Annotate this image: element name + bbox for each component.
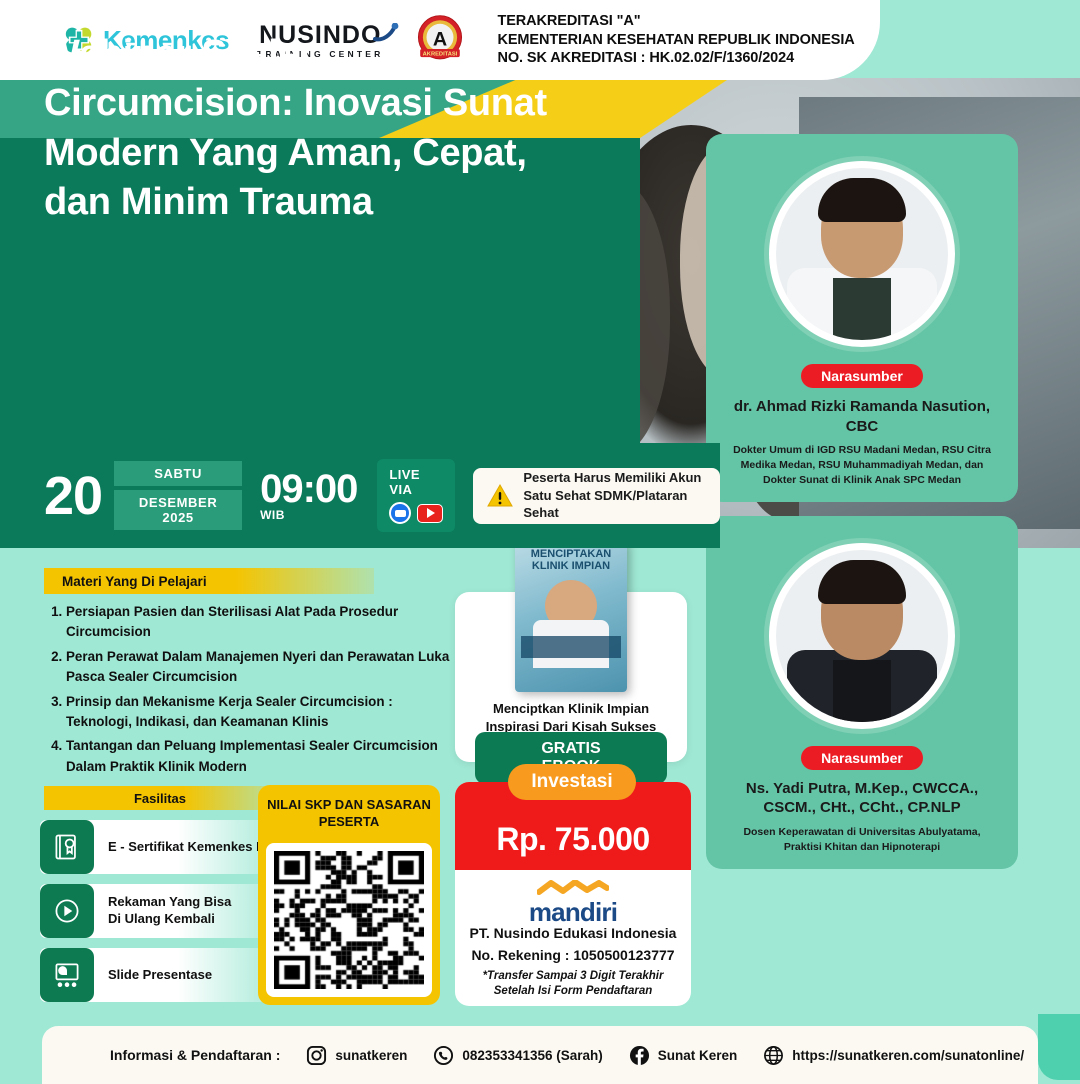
qr-panel: NILAI SKP DAN SASARAN PESERTA xyxy=(258,785,440,1005)
materi-list: Persiapan Pasien dan Sterilisasi Alat Pa… xyxy=(44,602,454,781)
fasilitas-item-slides: Slide Presentase xyxy=(40,948,290,1002)
participant-notice: Peserta Harus Memiliki Akun Satu Sehat S… xyxy=(473,468,720,524)
event-day-name: SABTU xyxy=(114,461,242,486)
fasilitas-item-certificate: E - Sertifikat Kemenkes RI xyxy=(40,820,290,874)
speaker-role: Dokter Umum di IGD RSU Madani Medan, RSU… xyxy=(718,443,1006,488)
whatsapp-icon xyxy=(433,1045,454,1066)
contact-instagram[interactable]: sunatkeren xyxy=(306,1045,407,1066)
investasi-price: Rp. 75.000 xyxy=(496,821,649,858)
event-timezone: WIB xyxy=(260,508,357,522)
event-datetime-bar: 20 SABTU DESEMBER 2025 09:00 WIB LIVE VI… xyxy=(0,443,720,548)
ebook-cover-image: MENCIPTAKAN KLINIK IMPIAN xyxy=(515,540,627,692)
speaker-avatar xyxy=(776,168,948,340)
speaker-photo-frame xyxy=(764,156,960,352)
fasilitas-heading-tag: Fasilitas xyxy=(44,786,276,810)
investasi-card: Rp. 75.000 mandiri PT. Nusindo Edukasi I… xyxy=(455,782,691,1006)
contact-facebook-text: Sunat Keren xyxy=(658,1048,738,1063)
ebook-button-line1: GRATIS xyxy=(541,740,600,758)
participant-notice-text: Peserta Harus Memiliki Akun Satu Sehat S… xyxy=(523,469,706,522)
poster-root: Kemenkes NUSINDO TRAINING CENTER xyxy=(0,0,1080,1080)
ebook-cover-title: MENCIPTAKAN KLINIK IMPIAN xyxy=(515,548,627,572)
ebook-card: MENCIPTAKAN KLINIK IMPIAN Menciptkan Kli… xyxy=(455,592,687,762)
event-time: 09:00 xyxy=(260,470,357,508)
play-icon xyxy=(40,884,94,938)
instagram-icon xyxy=(306,1045,327,1066)
speaker-card-2: Narasumber Ns. Yadi Putra, M.Kep., CWCCA… xyxy=(706,516,1018,869)
live-via-block: LIVE VIA xyxy=(377,459,455,532)
contact-whatsapp[interactable]: 082353341356 (Sarah) xyxy=(433,1045,602,1066)
speaker-name: Ns. Yadi Putra, M.Kep., CWCCA., CSCM., C… xyxy=(718,779,1006,818)
zoom-icon xyxy=(389,502,411,524)
qr-title: NILAI SKP DAN SASARAN PESERTA xyxy=(258,785,440,839)
contact-website-text: https://sunatkeren.com/sunatonline/ xyxy=(792,1048,1024,1063)
contact-instagram-text: sunatkeren xyxy=(335,1048,407,1063)
footer-label: Informasi & Pendaftaran : xyxy=(110,1047,280,1063)
fasilitas-heading: Fasilitas xyxy=(134,791,186,806)
certificate-icon xyxy=(40,820,94,874)
facebook-icon xyxy=(629,1045,650,1066)
event-month-year: DESEMBER 2025 xyxy=(114,490,242,530)
transfer-note: *Transfer Sampai 3 Digit Terakhir Setela… xyxy=(455,969,691,999)
speaker-name: dr. Ahmad Rizki Ramanda Nasution, CBC xyxy=(718,397,1006,436)
materi-item: Persiapan Pasien dan Sterilisasi Alat Pa… xyxy=(66,602,454,643)
speaker-avatar xyxy=(776,550,948,722)
page-title: Webinar Sealer Circumcision: Inovasi Sun… xyxy=(44,30,564,228)
materi-item: Peran Perawat Dalam Manajemen Nyeri dan … xyxy=(66,647,454,688)
speaker-card-1: Narasumber dr. Ahmad Rizki Ramanda Nasut… xyxy=(706,134,1018,502)
speaker-badge: Narasumber xyxy=(801,746,923,770)
materi-heading: Materi Yang Di Pelajari xyxy=(62,574,207,589)
mandiri-logo: mandiri xyxy=(455,880,691,920)
fasilitas-label: Rekaman Yang Bisa Di Ulang Kembali xyxy=(108,894,231,928)
speaker-role: Dosen Keperawatan di Universitas Abulyat… xyxy=(718,825,1006,855)
speaker-photo-frame xyxy=(764,538,960,734)
live-via-label: LIVE VIA xyxy=(389,467,443,497)
account-number: No. Rekening : 1050500123777 xyxy=(455,946,691,964)
fasilitas-label: Slide Presentase xyxy=(108,967,212,984)
presentation-icon xyxy=(40,948,94,1002)
materi-heading-tag: Materi Yang Di Pelajari xyxy=(44,568,374,594)
footer-corner-accent xyxy=(1038,1014,1080,1080)
investasi-badge: Investasi xyxy=(508,764,636,800)
materi-item: Tantangan dan Peluang Implementasi Seale… xyxy=(66,736,454,777)
contact-website[interactable]: https://sunatkeren.com/sunatonline/ xyxy=(763,1045,1024,1066)
speakers-column: Narasumber dr. Ahmad Rizki Ramanda Nasut… xyxy=(706,134,1018,883)
contact-facebook[interactable]: Sunat Keren xyxy=(629,1045,738,1066)
qr-code-box[interactable] xyxy=(266,843,432,997)
fasilitas-label: E - Sertifikat Kemenkes RI xyxy=(108,839,269,856)
fasilitas-item-recording: Rekaman Yang Bisa Di Ulang Kembali xyxy=(40,884,290,938)
contact-whatsapp-text: 082353341356 (Sarah) xyxy=(462,1048,602,1063)
accreditation-line-1: TERAKREDITASI "A" xyxy=(497,12,854,31)
youtube-icon xyxy=(417,504,443,523)
mandiri-wave-icon xyxy=(537,880,609,896)
materi-item: Prinsip dan Mekanisme Kerja Sealer Circu… xyxy=(66,692,454,733)
qr-code-image xyxy=(274,851,424,989)
footer-contact-bar: Informasi & Pendaftaran : sunatkeren 082… xyxy=(42,1026,1038,1084)
globe-icon xyxy=(763,1045,784,1066)
speaker-badge: Narasumber xyxy=(801,364,923,388)
event-day-number: 20 xyxy=(44,469,102,523)
warning-icon xyxy=(487,484,513,508)
mandiri-label: mandiri xyxy=(455,897,691,928)
